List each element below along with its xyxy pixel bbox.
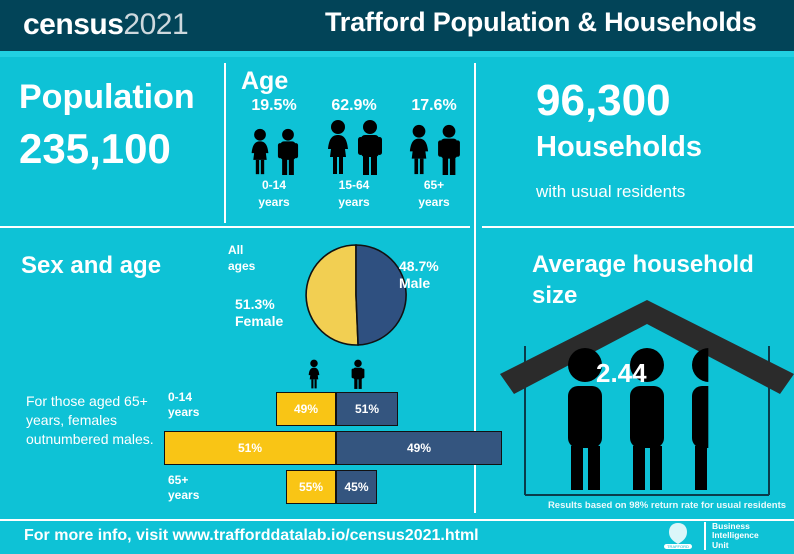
pie-male-text: Male [399, 275, 430, 291]
female-icon [247, 128, 273, 175]
house-graphic [500, 300, 794, 500]
age-couple-icon [391, 117, 477, 175]
footer-logo: TRAFFORD Business Intelligence Unit [658, 520, 759, 552]
population-label: Population [19, 78, 195, 117]
male-icon [350, 358, 366, 390]
divider-horizontal-left [0, 226, 470, 228]
age-caption-line2: years [231, 195, 317, 209]
all-ages-line1: All [228, 243, 243, 257]
divider-vertical-left [224, 63, 226, 223]
age-section-title: Age [241, 67, 288, 96]
census-logo: census2021 [23, 8, 188, 42]
bar-cat-line1: 65+years [168, 473, 199, 502]
infographic-page: census2021 Trafford Population & Househo… [0, 0, 794, 554]
households-value: 96,300 [536, 76, 671, 126]
male-icon [435, 124, 463, 175]
pie-male-percent: 48.7% [399, 258, 439, 274]
households-label: Households [536, 131, 702, 164]
pie-all-ages-label: All ages [228, 242, 255, 274]
pie-label-male: 48.7% Male [399, 258, 439, 292]
age-caption-line1: 0-14 [231, 178, 317, 192]
bar-legend-female-icon-wrap [306, 358, 322, 392]
footer-link[interactable]: For more info, visit www.trafforddatalab… [24, 527, 479, 545]
bar-segment-male: 45% [336, 470, 377, 504]
header-accent-bar [0, 51, 794, 57]
age-caption-line1: 65+ [391, 178, 477, 192]
all-ages-line2: ages [228, 259, 255, 273]
female-icon [323, 119, 353, 175]
population-value: 235,100 [19, 125, 171, 173]
trafford-council-crest: TRAFFORD [658, 520, 698, 552]
bar-legend-male-icon-wrap [350, 358, 366, 392]
bar-segment-female: 55% [286, 470, 336, 504]
svg-text:TRAFFORD: TRAFFORD [667, 544, 689, 549]
organisation-name: Business Intelligence Unit [712, 522, 759, 551]
age-group-0-14: 19.5% 0-14 years [231, 95, 317, 209]
bar-category-0-14: 0-14years [168, 390, 228, 420]
age-couple-icon [311, 117, 397, 175]
pie-female-text: Female [235, 313, 283, 329]
brand-word: census [23, 8, 123, 41]
pie-label-female: 51.3% Female [235, 296, 283, 330]
male-icon [275, 128, 301, 175]
divider-horizontal-right [482, 226, 794, 228]
person-icon-half [692, 348, 726, 490]
age-caption-line1: 15-64 [311, 178, 397, 192]
table-row: 51% 49% [164, 431, 502, 465]
table-row: 55% 45% [286, 470, 377, 504]
bar-segment-female: 49% [276, 392, 336, 426]
average-household-value: 2.44 [596, 358, 647, 389]
female-icon [405, 124, 433, 175]
age-caption-line2: years [311, 195, 397, 209]
results-footnote: Results based on 98% return rate for usu… [540, 500, 794, 511]
bar-segment-female: 51% [164, 431, 336, 465]
pie-female-percent: 51.3% [235, 296, 275, 312]
sex-and-age-note: For those aged 65+ years, females outnum… [26, 392, 166, 449]
age-percent: 17.6% [391, 95, 477, 117]
bar-segment-male: 49% [336, 431, 502, 465]
bar-segment-male: 51% [336, 392, 398, 426]
bar-cat-line1: 0-14years [168, 390, 199, 419]
bar-category-65-plus: 65+years [168, 473, 228, 503]
pie-slice-female [306, 245, 358, 345]
page-title: Trafford Population & Households [325, 7, 757, 38]
male-icon [355, 119, 385, 175]
org-line1: Business [712, 521, 750, 531]
households-sublabel: with usual residents [536, 182, 685, 202]
age-percent: 19.5% [231, 95, 317, 117]
org-line3: Unit [712, 540, 729, 550]
sex-pie-chart [304, 243, 408, 347]
female-icon [306, 358, 322, 390]
sex-and-age-title: Sex and age [21, 252, 161, 280]
age-group-65-plus: 17.6% 65+ years [391, 95, 477, 209]
age-percent: 62.9% [311, 95, 397, 117]
age-couple-icon [231, 117, 317, 175]
header-bar: census2021 Trafford Population & Househo… [0, 0, 794, 51]
logo-separator [704, 522, 706, 550]
org-line2: Intelligence [712, 530, 759, 540]
age-caption-line2: years [391, 195, 477, 209]
table-row: 49% 51% [276, 392, 398, 426]
age-group-15-64: 62.9% 15-64 years [311, 95, 397, 209]
brand-year: 2021 [123, 8, 188, 41]
